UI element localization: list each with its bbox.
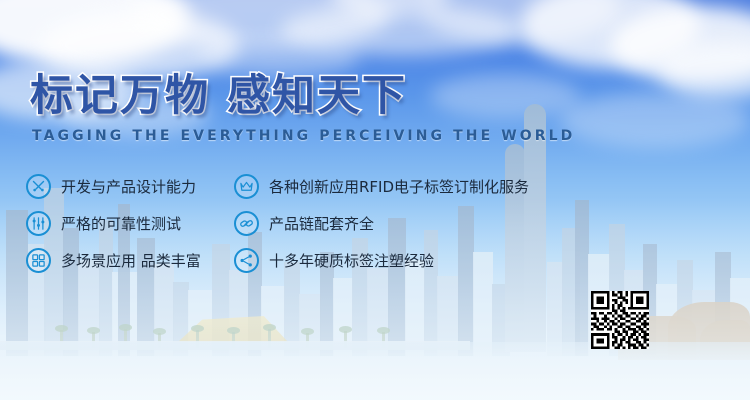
page-title: 标记万物 感知天下 <box>30 72 407 120</box>
feature-label: 多场景应用 品类丰富 <box>61 250 201 271</box>
feature-label: 十多年硬质标签注塑经验 <box>269 250 434 271</box>
feature-label: 严格的可靠性测试 <box>61 213 181 234</box>
feature-label: 开发与产品设计能力 <box>61 176 196 197</box>
feature-row: 严格的可靠性测试 产品链配套齐全 <box>26 205 586 242</box>
promo-banner: 标记万物 感知天下 TAGGING THE EVERYTHING PERCEIV… <box>0 0 750 400</box>
feature-label: 各种创新应用RFID电子标签订制化服务 <box>269 176 529 197</box>
feature-row: 开发与产品设计能力 各种创新应用RFID电子标签订制化服务 <box>26 168 586 205</box>
feature-row: 多场景应用 品类丰富 十多年硬质标签注塑经验 <box>26 242 586 279</box>
crossed-tools-icon <box>26 174 51 199</box>
page-subtitle: TAGGING THE EVERYTHING PERCEIVING THE WO… <box>32 128 575 144</box>
feature-item-development[interactable]: 开发与产品设计能力 <box>26 174 234 199</box>
equalizer-sliders-icon <box>26 211 51 236</box>
qr-code[interactable] <box>591 291 649 349</box>
chain-link-icon <box>234 211 259 236</box>
feature-label: 产品链配套齐全 <box>269 213 374 234</box>
feature-item-multi-scenario[interactable]: 多场景应用 品类丰富 <box>26 248 234 273</box>
share-network-icon <box>234 248 259 273</box>
feature-list: 开发与产品设计能力 各种创新应用RFID电子标签订制化服务 <box>26 168 586 279</box>
crown-icon <box>234 174 259 199</box>
feature-item-reliability-test[interactable]: 严格的可靠性测试 <box>26 211 234 236</box>
grid-squares-icon <box>26 248 51 273</box>
feature-item-molding-experience[interactable]: 十多年硬质标签注塑经验 <box>234 248 434 273</box>
feature-item-rfid-service[interactable]: 各种创新应用RFID电子标签订制化服务 <box>234 174 529 199</box>
qr-code-image <box>591 291 649 349</box>
feature-item-supply-chain[interactable]: 产品链配套齐全 <box>234 211 374 236</box>
